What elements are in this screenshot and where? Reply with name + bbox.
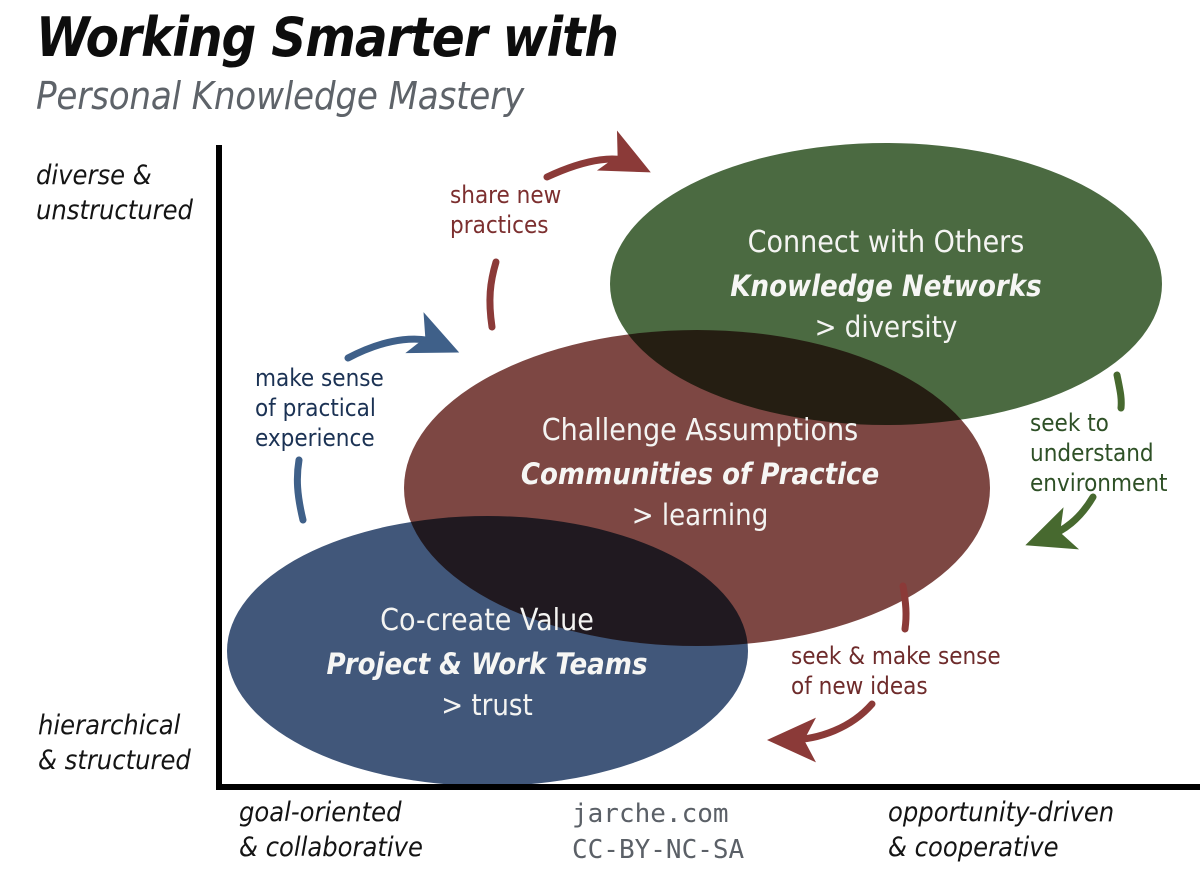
annotation-share-line2: practices [450,210,561,240]
annotation-share-new-practices: share new practices [450,180,561,240]
x-axis-left-label: goal-oriented & collaborative [239,795,423,865]
cocreate-heading: Co-create Value [237,600,737,642]
challenge-metric: > learning [420,496,980,534]
y-axis-bottom-label-line1: hierarchical [38,708,191,743]
y-axis-bottom-label: hierarchical & structured [38,708,191,778]
annotation-seek-new-ideas: seek & make sense of new ideas [791,641,1001,701]
arrow-share-new-practices-tail [490,262,496,327]
annotation-seek-understand-environment: seek to understand environment [1030,408,1167,498]
x-axis-left-label-line1: goal-oriented [239,795,423,830]
y-axis-top-label-line1: diverse & [36,158,193,193]
challenge-heading: Challenge Assumptions [420,410,980,452]
y-axis-line [216,145,222,790]
arrow-seek-new-ideas-head [788,704,872,740]
diagram-canvas: Working Smarter with Personal Knowledge … [0,0,1200,883]
cocreate-metric: > trust [237,686,737,724]
annotation-ideas-line1: seek & make sense [791,641,1001,671]
annotation-make-line2: of practical [255,393,384,423]
annotation-env-line2: understand [1030,438,1167,468]
label-co-create-value: Co-create Value Project & Work Teams > t… [237,600,737,724]
cocreate-subheading: Project & Work Teams [237,642,737,686]
y-axis-top-label-line2: unstructured [36,193,193,228]
label-connect-with-others: Connect with Others Knowledge Networks >… [636,222,1136,346]
connect-metric: > diversity [636,308,1136,346]
x-axis-right-label-line2: & cooperative [888,830,1114,865]
x-axis-line [216,784,1200,790]
page-subtitle: Personal Knowledge Mastery [36,74,524,118]
connect-subheading: Knowledge Networks [636,264,1136,308]
challenge-subheading: Communities of Practice [420,452,980,496]
attribution-site: jarche.com [572,796,744,832]
annotation-share-line1: share new [450,180,561,210]
arrow-seek-understand-head [1045,497,1093,538]
annotation-env-line1: seek to [1030,408,1167,438]
annotation-make-line1: make sense [255,363,384,393]
annotation-make-line3: experience [255,423,384,453]
x-axis-right-label: opportunity-driven & cooperative [888,795,1114,865]
arrow-make-sense-tail [297,460,303,520]
x-axis-left-label-line2: & collaborative [239,830,423,865]
attribution-license: CC-BY-NC-SA [572,832,744,868]
label-challenge-assumptions: Challenge Assumptions Communities of Pra… [420,410,980,534]
annotation-ideas-line2: of new ideas [791,671,1001,701]
y-axis-bottom-label-line2: & structured [38,743,191,778]
x-axis-right-label-line1: opportunity-driven [888,795,1114,830]
page-title: Working Smarter with [36,8,618,68]
annotation-env-line3: environment [1030,468,1167,498]
connect-heading: Connect with Others [636,222,1136,264]
arrow-share-new-practices-head [547,159,632,177]
annotation-make-sense: make sense of practical experience [255,363,384,453]
arrow-make-sense-head [348,339,440,358]
y-axis-top-label: diverse & unstructured [36,158,193,228]
arrow-seek-understand-tail [1117,375,1121,408]
attribution: jarche.com CC-BY-NC-SA [572,796,744,868]
